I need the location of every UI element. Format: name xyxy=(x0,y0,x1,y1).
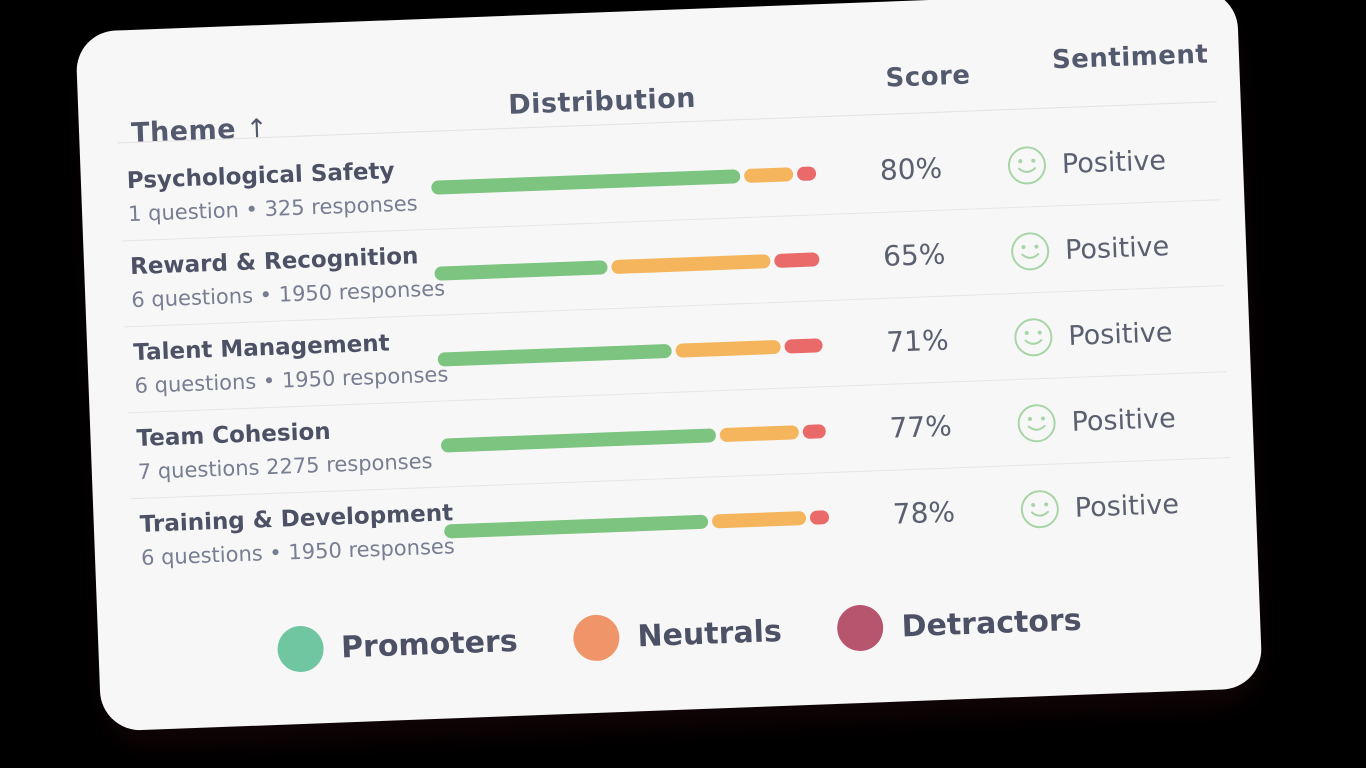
distribution-segment-detractors xyxy=(785,338,823,353)
chart-legend: PromotersNeutralsDetractors xyxy=(98,590,1261,680)
sentiment-cell: Positive xyxy=(1012,311,1174,359)
sentiment-label: Positive xyxy=(1074,488,1179,523)
column-header-score[interactable]: Score xyxy=(885,60,971,93)
theme-table-card-wrapper: Theme↑ Distribution Score Sentiment Psyc… xyxy=(75,0,1262,732)
legend-label: Promoters xyxy=(340,623,518,665)
distribution-segment-neutrals xyxy=(720,425,800,442)
legend-color-swatch xyxy=(276,625,324,673)
sentiment-cell: Positive xyxy=(1008,225,1170,273)
distribution-bar xyxy=(441,424,826,452)
table-body: Psychological Safety1 question • 325 res… xyxy=(80,112,1257,585)
smiley-positive-icon xyxy=(1012,316,1056,360)
distribution-bar xyxy=(431,166,816,194)
sentiment-label: Positive xyxy=(1061,145,1166,180)
distribution-segment-detractors xyxy=(803,424,826,439)
sentiment-label: Positive xyxy=(1068,317,1173,352)
legend-item[interactable]: Neutrals xyxy=(573,608,783,662)
legend-label: Detractors xyxy=(901,602,1082,644)
column-header-sentiment[interactable]: Sentiment xyxy=(1051,40,1208,76)
theme-table-card: Theme↑ Distribution Score Sentiment Psyc… xyxy=(75,0,1262,732)
score-value: 71% xyxy=(847,322,988,360)
score-value: 65% xyxy=(844,236,985,274)
smiley-positive-icon xyxy=(1018,487,1062,531)
distribution-segment-neutrals xyxy=(612,254,771,274)
sort-ascending-icon[interactable]: ↑ xyxy=(245,114,268,145)
column-header-distribution[interactable]: Distribution xyxy=(508,83,697,121)
sentiment-label: Positive xyxy=(1071,403,1176,438)
sentiment-cell: Positive xyxy=(1005,139,1167,187)
smiley-positive-icon xyxy=(1015,401,1059,445)
distribution-bar xyxy=(444,510,829,538)
legend-color-swatch xyxy=(837,604,885,652)
legend-color-swatch xyxy=(573,614,621,662)
distribution-bar xyxy=(434,252,819,280)
smiley-positive-icon xyxy=(1005,144,1049,188)
screenshot-stage: Theme↑ Distribution Score Sentiment Psyc… xyxy=(0,0,1366,768)
legend-label: Neutrals xyxy=(637,613,783,653)
distribution-segment-detractors xyxy=(797,166,816,181)
legend-item[interactable]: Detractors xyxy=(837,597,1083,652)
score-value: 78% xyxy=(853,494,994,532)
distribution-segment-neutrals xyxy=(744,167,794,183)
distribution-segment-detractors xyxy=(774,252,820,268)
distribution-segment-detractors xyxy=(810,510,829,525)
score-value: 77% xyxy=(850,408,991,446)
legend-item[interactable]: Promoters xyxy=(276,618,518,673)
distribution-segment-neutrals xyxy=(675,340,781,358)
distribution-bar xyxy=(438,338,823,366)
sentiment-label: Positive xyxy=(1065,231,1170,266)
distribution-segment-neutrals xyxy=(712,511,807,529)
smiley-positive-icon xyxy=(1008,230,1052,274)
column-header-theme-label: Theme xyxy=(131,114,237,149)
sentiment-cell: Positive xyxy=(1015,397,1177,445)
sentiment-cell: Positive xyxy=(1018,483,1180,531)
column-header-theme[interactable]: Theme↑ xyxy=(131,113,269,149)
score-value: 80% xyxy=(840,150,981,188)
